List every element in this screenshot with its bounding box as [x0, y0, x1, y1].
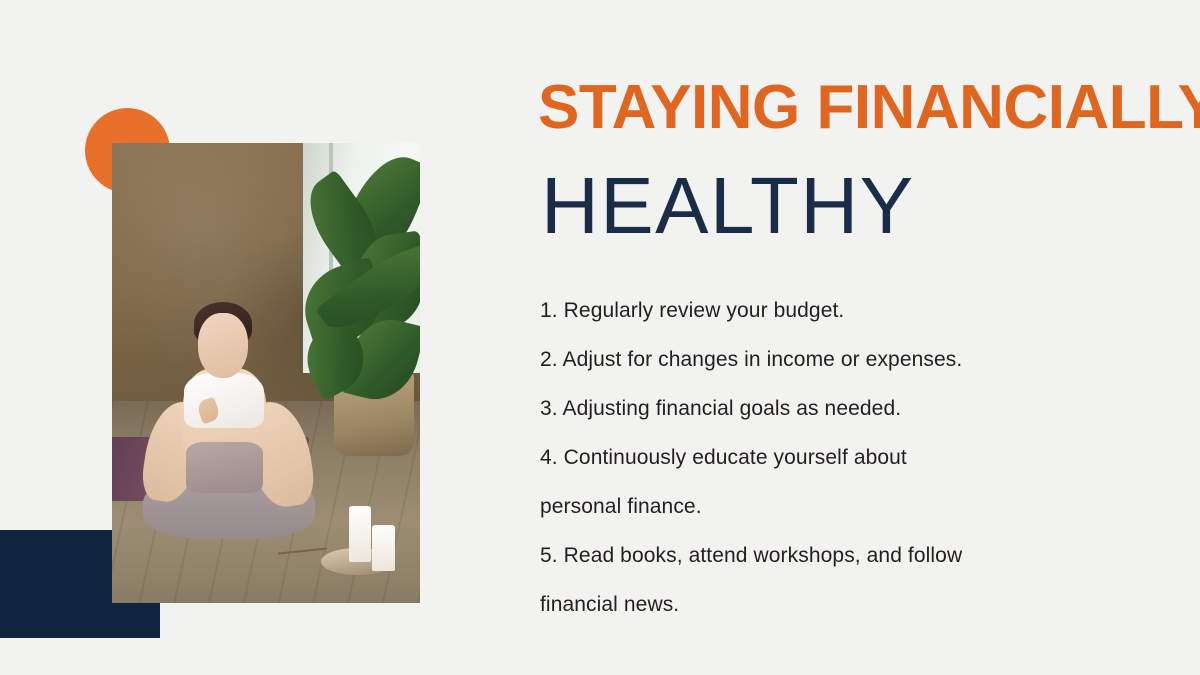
- candle-icon: [372, 525, 395, 571]
- list-item: 5. Read books, attend workshops, and fol…: [540, 531, 1160, 580]
- list-item: 4. Continuously educate yourself about: [540, 433, 1160, 482]
- page-title-secondary: HEALTHY: [541, 166, 915, 246]
- photo-content: [112, 143, 420, 603]
- person-shorts: [186, 442, 263, 493]
- candle-icon: [349, 506, 371, 561]
- list-item: 2. Adjust for changes in income or expen…: [540, 335, 1160, 384]
- list-item-continuation: personal finance.: [540, 482, 1160, 531]
- list-item-continuation: financial news.: [540, 580, 1160, 629]
- slide-canvas: STAYING FINANCIALLY HEALTHY 1. Regularly…: [0, 0, 1200, 675]
- person-sports-top: [184, 373, 264, 428]
- bullet-list: 1. Regularly review your budget. 2. Adju…: [540, 286, 1160, 629]
- list-item: 1. Regularly review your budget.: [540, 286, 1160, 335]
- person-head: [198, 313, 247, 377]
- meditation-photo: [112, 143, 420, 603]
- list-item: 3. Adjusting financial goals as needed.: [540, 384, 1160, 433]
- page-title-primary: STAYING FINANCIALLY: [538, 77, 1200, 139]
